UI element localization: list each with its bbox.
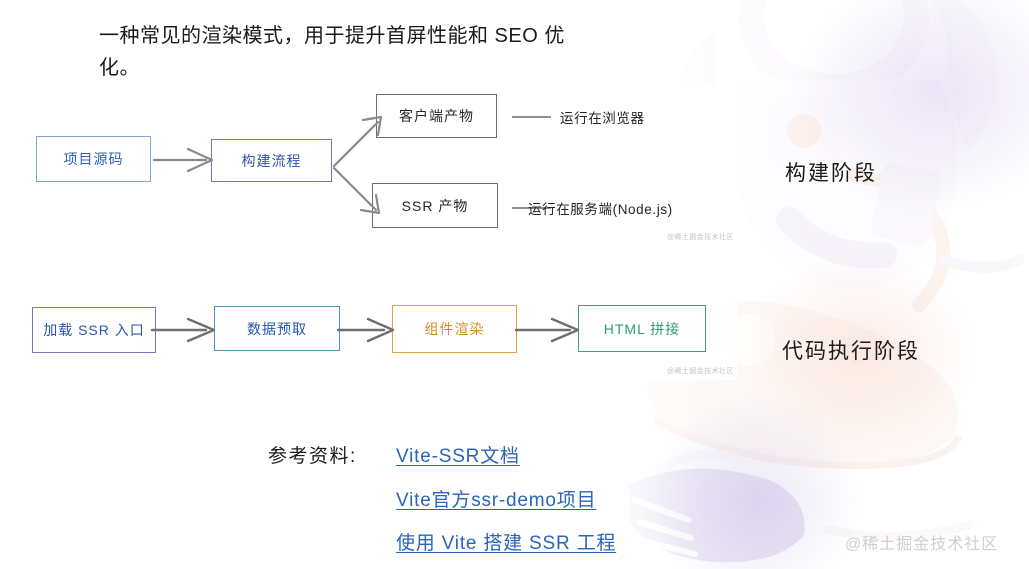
stage-label-code-execution: 代码执行阶段 bbox=[782, 335, 920, 365]
flow-box-html-assembly[interactable]: HTML 拼接 bbox=[578, 305, 706, 352]
card-watermark: @稀土掘金技术社区 bbox=[667, 366, 734, 376]
flow-box-ssr-artifact[interactable]: SSR 产物 bbox=[372, 183, 498, 228]
reference-link-ssr-demo[interactable]: Vite官方ssr-demo项目 bbox=[396, 485, 596, 512]
stage-label-build: 构建阶段 bbox=[785, 157, 877, 187]
flow-box-component-render[interactable]: 组件渲染 bbox=[392, 305, 517, 353]
flow-box-data-prefetch[interactable]: 数据预取 bbox=[214, 306, 340, 351]
references-label: 参考资料: bbox=[268, 441, 357, 468]
caption-client-runtime: 运行在浏览器 bbox=[560, 107, 645, 127]
card-watermark: @稀土掘金技术社区 bbox=[667, 232, 734, 242]
caption-ssr-runtime: 运行在服务端(Node.js) bbox=[528, 198, 673, 218]
reference-link-build-ssr-proj[interactable]: 使用 Vite 搭建 SSR 工程 bbox=[396, 528, 616, 555]
flow-box-build-process[interactable]: 构建流程 bbox=[211, 139, 332, 182]
page-title: 一种常见的渲染模式，用于提升首屏性能和 SEO 优 化。 bbox=[99, 20, 619, 84]
reference-link-vite-ssr-docs[interactable]: Vite-SSR文档 bbox=[396, 441, 520, 468]
site-watermark: @稀土掘金技术社区 bbox=[845, 530, 998, 554]
slide-canvas: 一种常见的渲染模式，用于提升首屏性能和 SEO 优 化。 项目源码 构建流程 客… bbox=[0, 0, 1029, 569]
flow-box-project-source[interactable]: 项目源码 bbox=[36, 136, 151, 182]
flow-box-client-artifact[interactable]: 客户端产物 bbox=[376, 94, 497, 138]
connector-line-client bbox=[512, 116, 551, 118]
flow-box-load-ssr-entry[interactable]: 加载 SSR 入口 bbox=[32, 307, 156, 353]
